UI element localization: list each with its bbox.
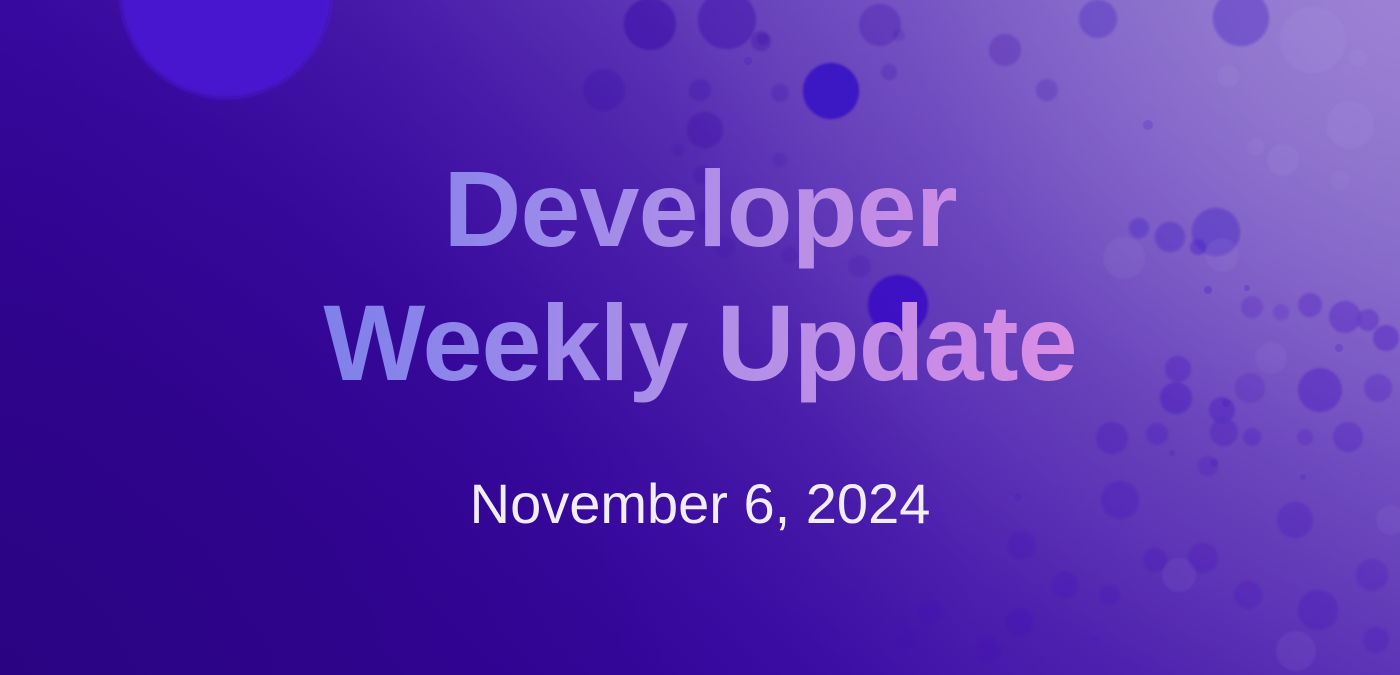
page-title-line-2: Weekly Update (323, 273, 1076, 413)
slide-content: Developer Weekly Update November 6, 2024 (0, 0, 1400, 675)
page-title-line-1: Developer (323, 139, 1076, 279)
title-slide: Developer Weekly Update November 6, 2024 (0, 0, 1400, 675)
slide-date: November 6, 2024 (470, 471, 931, 536)
page-title: Developer Weekly Update (323, 139, 1076, 414)
